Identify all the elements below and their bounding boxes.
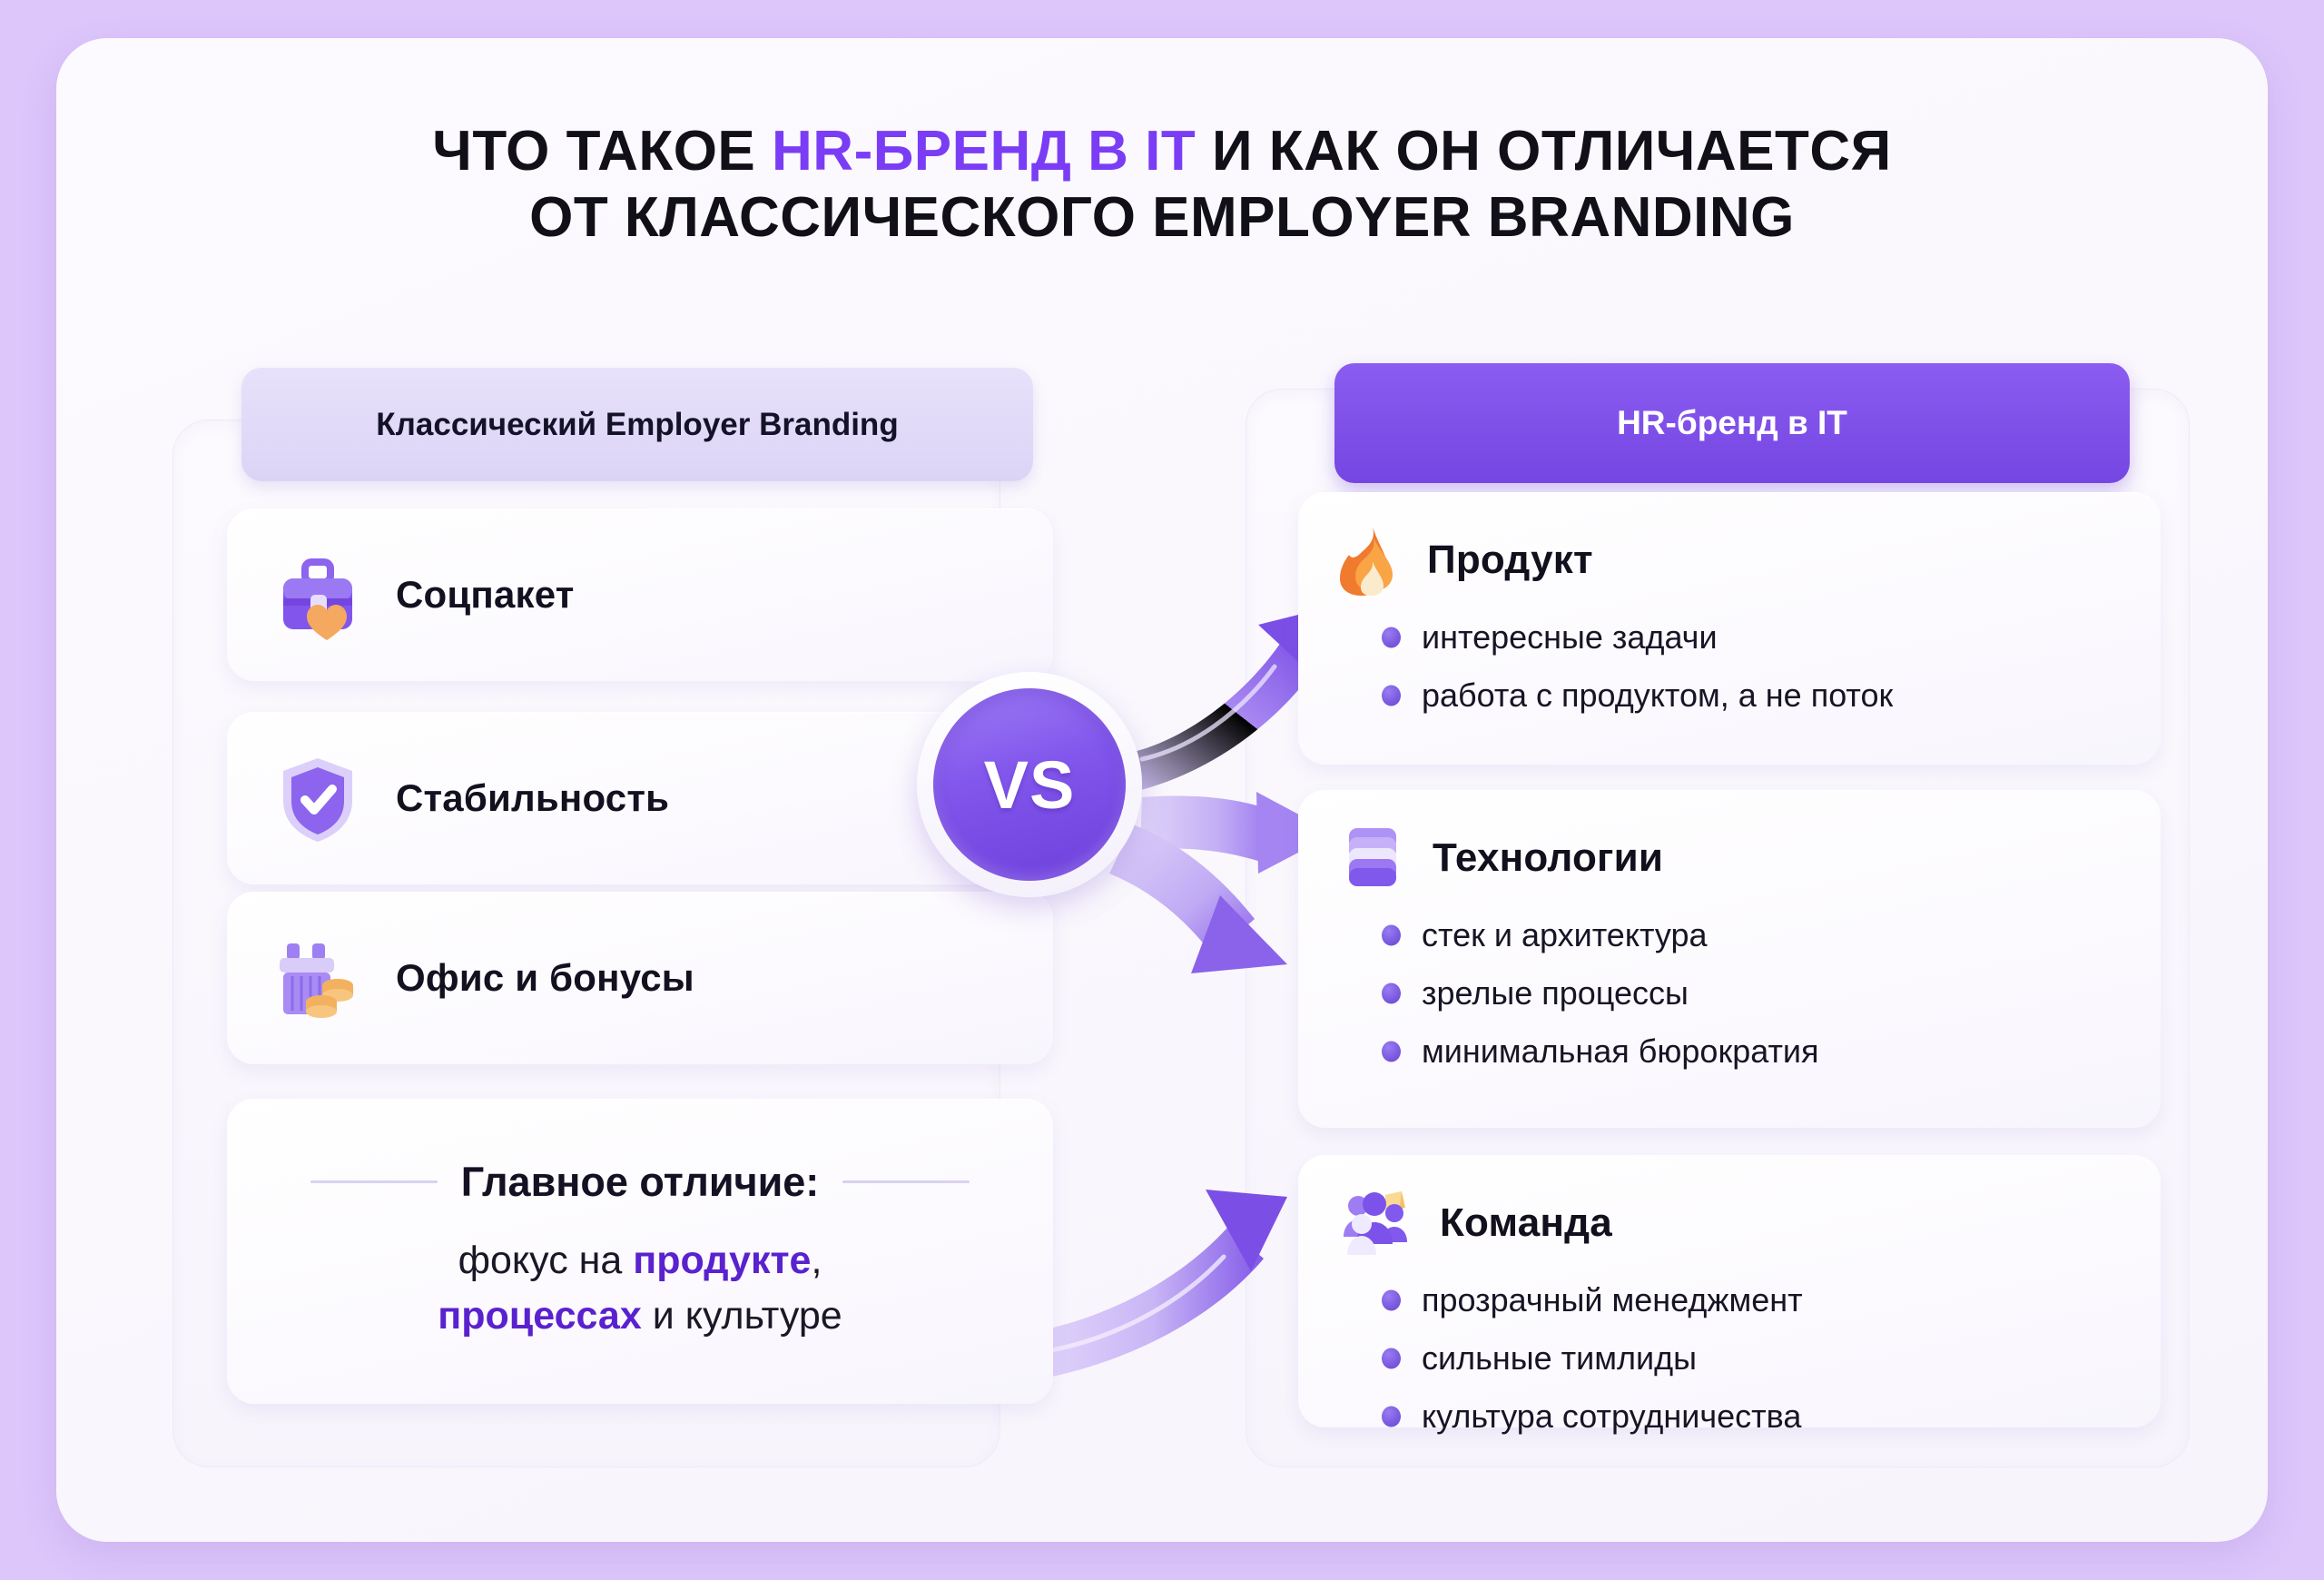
left-card-office-bonuses[interactable]: Офис и бонусы — [227, 892, 1053, 1064]
right-card-product[interactable]: Продукт интересные задачи работа с проду… — [1298, 492, 2161, 765]
bullet-item: минимальная бюрократия — [1382, 1022, 2121, 1081]
main-difference-card: Главное отличие: фокус на продукте, проц… — [227, 1099, 1053, 1404]
left-card-label: Соцпакет — [396, 573, 575, 617]
vs-badge: VS — [917, 672, 1142, 897]
difference-line2-suffix: и культуре — [642, 1294, 842, 1338]
right-column-header-label: HR-бренд в IT — [1617, 404, 1847, 442]
right-card-team[interactable]: Команда прозрачный менеджмент сильные ти… — [1298, 1155, 2161, 1427]
divider-left — [310, 1180, 438, 1183]
bullet-item: работа с продуктом, а не поток — [1382, 667, 2121, 725]
title-line-2: ОТ КЛАССИЧЕСКОГО EMPLOYER BRANDING — [529, 186, 1795, 249]
bullet-item: сильные тимлиды — [1382, 1329, 2121, 1387]
title-part-2: И КАК ОН ОТЛИЧАЕТСЯ — [1196, 120, 1891, 183]
difference-line1-suffix: , — [811, 1239, 822, 1282]
right-card-bullet-list: прозрачный менеджмент сильные тимлиды ку… — [1338, 1271, 2121, 1446]
page-title: ЧТО ТАКОЕ HR-БРЕНД В IT И КАК ОН ОТЛИЧАЕ… — [0, 118, 2324, 251]
right-card-title: Продукт — [1427, 538, 1593, 583]
people-group-icon — [1338, 1188, 1416, 1259]
left-card-label: Стабильность — [396, 776, 669, 820]
stack-layers-icon — [1338, 823, 1409, 894]
title-highlight: HR-БРЕНД В IT — [772, 120, 1196, 183]
divider-right — [842, 1180, 970, 1183]
left-card-label: Офис и бонусы — [396, 956, 694, 1000]
shield-check-icon — [271, 751, 365, 845]
bullet-item: прозрачный менеджмент — [1382, 1271, 2121, 1329]
difference-line2-accent: процессах — [438, 1294, 641, 1338]
right-card-header: Команда — [1338, 1188, 2121, 1259]
title-line-1: ЧТО ТАКОЕ HR-БРЕНД В IT И КАК ОН ОТЛИЧАЕ… — [432, 120, 1891, 183]
left-column-header-label: Классический Employer Branding — [376, 407, 898, 443]
bullet-item: стек и архитектура — [1382, 906, 2121, 964]
right-card-technologies[interactable]: Технологии стек и архитектура зрелые про… — [1298, 790, 2161, 1128]
right-column-header: HR-бренд в IT — [1334, 363, 2130, 483]
difference-heading-row: Главное отличие: — [227, 1159, 1053, 1206]
right-card-bullet-list: стек и архитектура зрелые процессы миним… — [1338, 906, 2121, 1081]
vs-badge-core: VS — [933, 688, 1126, 881]
right-card-title: Технологии — [1433, 835, 1663, 881]
bullet-item: интересные задачи — [1382, 608, 2121, 667]
briefcase-heart-icon — [271, 548, 365, 642]
office-coins-icon — [271, 931, 365, 1025]
fire-icon — [1338, 525, 1403, 596]
infographic-stage: ЧТО ТАКОЕ HR-БРЕНД В IT И КАК ОН ОТЛИЧАЕ… — [0, 0, 2324, 1580]
right-card-header: Технологии — [1338, 823, 2121, 894]
difference-line1-prefix: фокус на — [458, 1239, 634, 1282]
difference-line1-accent: продукте — [633, 1239, 811, 1282]
left-column-header: Классический Employer Branding — [241, 368, 1033, 481]
vs-badge-label: VS — [984, 746, 1076, 824]
title-part-1: ЧТО ТАКОЕ — [432, 120, 772, 183]
difference-body: фокус на продукте, процессах и культуре — [438, 1233, 842, 1344]
right-card-bullet-list: интересные задачи работа с продуктом, а … — [1338, 608, 2121, 725]
difference-heading: Главное отличие: — [461, 1159, 820, 1206]
left-card-socpaket[interactable]: Соцпакет — [227, 509, 1053, 681]
right-card-title: Команда — [1440, 1200, 1612, 1246]
bullet-item: зрелые процессы — [1382, 964, 2121, 1022]
right-card-header: Продукт — [1338, 525, 2121, 596]
bullet-item: культура сотрудничества — [1382, 1387, 2121, 1446]
